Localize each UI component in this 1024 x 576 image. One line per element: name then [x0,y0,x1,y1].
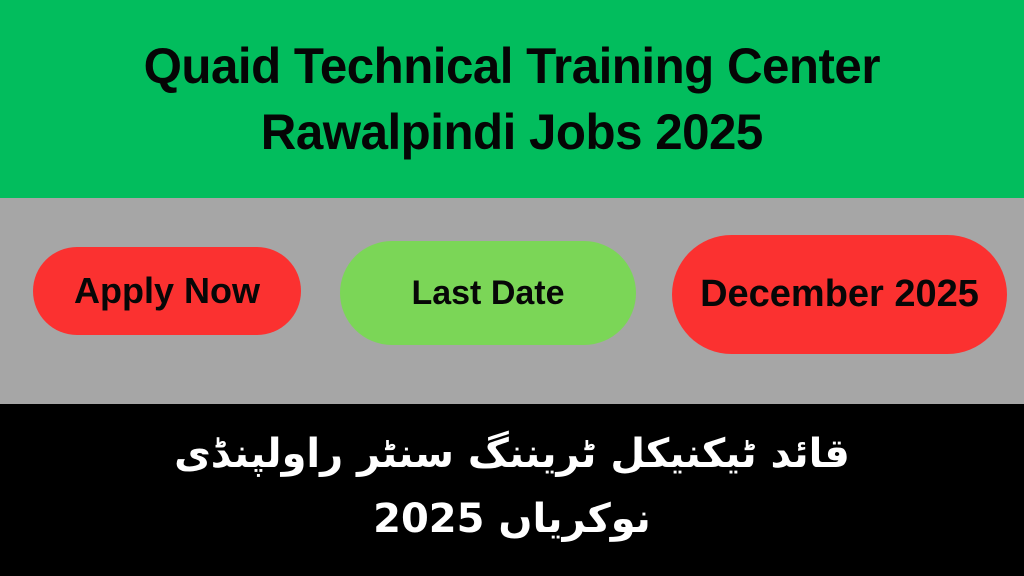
urdu-title-line-1: قائد ٹیکنیکل ٹریننگ سنٹر راولپنڈی [174,422,850,487]
poster-header-band: Quaid Technical Training Center Rawalpin… [0,0,1024,198]
urdu-title: قائد ٹیکنیکل ٹریننگ سنٹر راولپنڈی نوکریا… [174,422,850,552]
last-date-label: Last Date [340,241,636,345]
page-title-line-2: Rawalpindi Jobs 2025 [144,99,880,165]
page-title-line-1: Quaid Technical Training Center [144,33,880,99]
page-title: Quaid Technical Training Center Rawalpin… [138,33,886,165]
apply-now-button[interactable]: Apply Now [33,247,301,335]
urdu-footer-band: قائد ٹیکنیکل ٹریننگ سنٹر راولپنڈی نوکریا… [0,404,1024,576]
job-poster: Quaid Technical Training Center Rawalpin… [0,0,1024,576]
deadline-month-badge: December 2025 [672,235,1007,354]
urdu-title-line-2: نوکریاں 2025 [174,487,850,552]
badges-strip: Apply Now Last Date December 2025 [0,198,1024,404]
